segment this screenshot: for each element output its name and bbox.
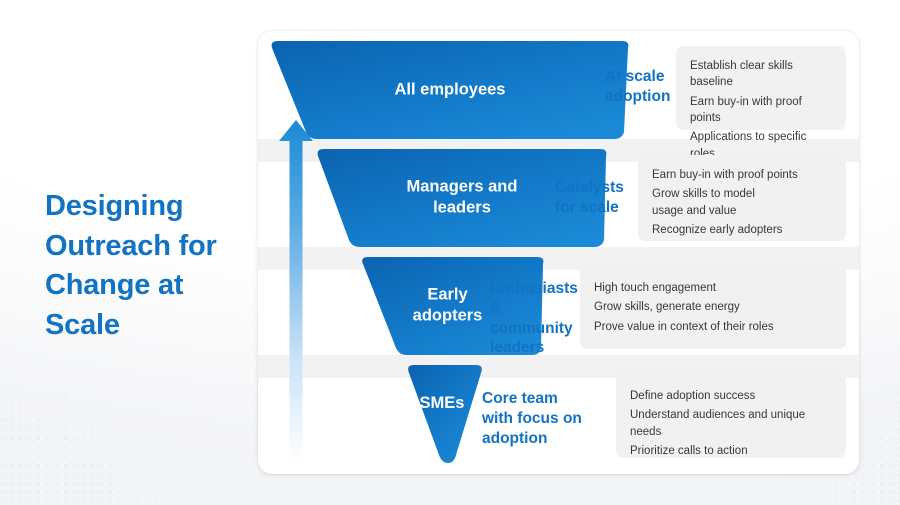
funnel-role-1: At scale adoption bbox=[605, 67, 685, 107]
detail-item: Grow skills to model usage and value bbox=[652, 186, 782, 219]
funnel-row-1: All employees At scale adoption Establis… bbox=[258, 41, 859, 139]
funnel-shape-all-employees[interactable] bbox=[270, 41, 630, 139]
detail-item: Understand audiences and unique needs bbox=[630, 407, 832, 440]
role-line: leaders bbox=[490, 338, 590, 358]
detail-item: Earn buy-in with proof points bbox=[690, 94, 832, 127]
page-title: Designing Outreach for Change at Scale bbox=[45, 187, 260, 345]
role-line: adoption bbox=[482, 429, 592, 449]
role-line: Enthusiasts & bbox=[490, 279, 590, 319]
dot-pattern-bottom-left bbox=[0, 335, 280, 505]
role-line: At scale bbox=[605, 67, 685, 87]
detail-box-2[interactable]: Earn buy-in with proof points Grow skill… bbox=[638, 155, 846, 241]
slide-canvas: Designing Outreach for Change at Scale bbox=[0, 0, 900, 505]
detail-item: Prove value in context of their roles bbox=[594, 319, 832, 335]
detail-box-4[interactable]: Define adoption success Understand audie… bbox=[616, 370, 846, 458]
role-line: adoption bbox=[605, 87, 685, 107]
funnel-role-3: Enthusiasts & community leaders bbox=[490, 279, 590, 358]
detail-item: Grow skills, generate energy bbox=[594, 299, 832, 315]
role-line: for scale bbox=[555, 198, 635, 218]
role-line: with focus on bbox=[482, 409, 592, 429]
detail-box-1[interactable]: Establish clear skills baseline Earn buy… bbox=[676, 46, 846, 130]
funnel-row-4: SMEs Core team with focus on adoption De… bbox=[258, 365, 859, 463]
detail-item: Recognize early adopters bbox=[652, 222, 832, 238]
funnel-card: All employees At scale adoption Establis… bbox=[258, 31, 859, 474]
funnel-role-2: Catalysts for scale bbox=[555, 178, 635, 218]
detail-item: Define adoption success bbox=[630, 388, 832, 404]
detail-item: Prioritize calls to action bbox=[630, 443, 832, 459]
funnel-row-2: Managers and leaders Catalysts for scale… bbox=[258, 149, 859, 247]
funnel-row-3: Early adopters Enthusiasts & community l… bbox=[258, 257, 859, 355]
detail-box-3[interactable]: High touch engagement Grow skills, gener… bbox=[580, 263, 846, 349]
detail-item: High touch engagement bbox=[594, 280, 832, 296]
role-line: Core team bbox=[482, 389, 592, 409]
funnel-shape-smes[interactable] bbox=[406, 365, 484, 463]
detail-item: Earn buy-in with proof points bbox=[652, 167, 832, 183]
detail-item: Establish clear skills baseline bbox=[690, 58, 832, 91]
role-line: Catalysts bbox=[555, 178, 635, 198]
funnel-role-4: Core team with focus on adoption bbox=[482, 389, 592, 448]
role-line: community bbox=[490, 319, 590, 339]
